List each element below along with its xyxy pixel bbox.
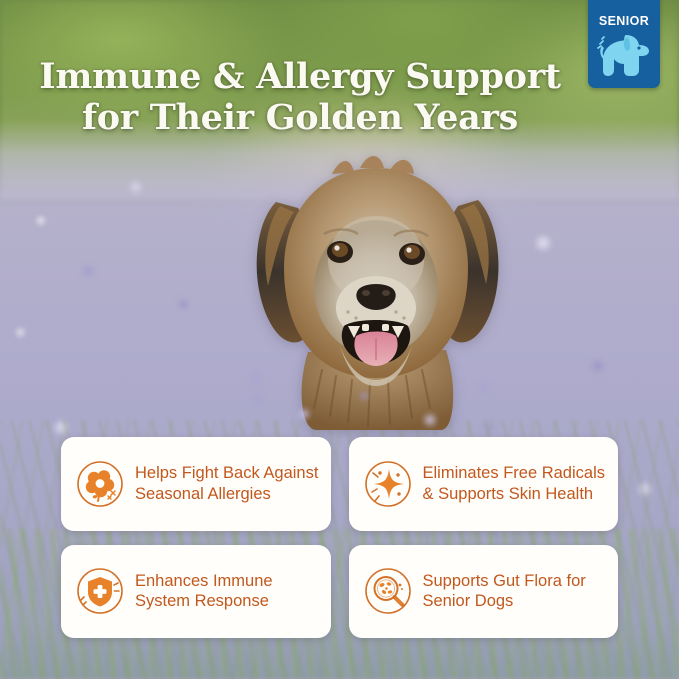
feature-card-allergies[interactable]: Helps Fight Back Against Seasonal Allerg…: [61, 437, 331, 531]
feature-card-free-radicals[interactable]: Eliminates Free Radicals & Supports Skin…: [349, 437, 619, 531]
shield-plus-immune-icon: [75, 566, 125, 616]
senior-badge-label: SENIOR: [599, 14, 649, 28]
sparkle-radical-icon: [363, 459, 413, 509]
headline-line-1: Immune & Allergy Support: [39, 56, 560, 97]
feature-card-text: Supports Gut Flora for Senior Dogs: [423, 571, 609, 612]
sitting-dog-icon: [596, 30, 652, 87]
flower-allergy-icon: [75, 459, 125, 509]
feature-card-text: Enhances Immune System Response: [135, 571, 321, 612]
magnifier-microbe-icon: [363, 566, 413, 616]
feature-card-gut-flora[interactable]: Supports Gut Flora for Senior Dogs: [349, 545, 619, 639]
feature-card-grid: Helps Fight Back Against Seasonal Allerg…: [61, 437, 618, 638]
feature-card-immune[interactable]: Enhances Immune System Response: [61, 545, 331, 639]
feature-card-text: Eliminates Free Radicals & Supports Skin…: [423, 463, 609, 504]
page-title: Immune & Allergy Support for Their Golde…: [0, 57, 600, 139]
headline-line-2: for Their Golden Years: [0, 98, 600, 139]
feature-card-text: Helps Fight Back Against Seasonal Allerg…: [135, 463, 321, 504]
product-hero-image: SENIOR: [0, 0, 679, 679]
foreground-lavender-sprigs: [220, 330, 520, 450]
